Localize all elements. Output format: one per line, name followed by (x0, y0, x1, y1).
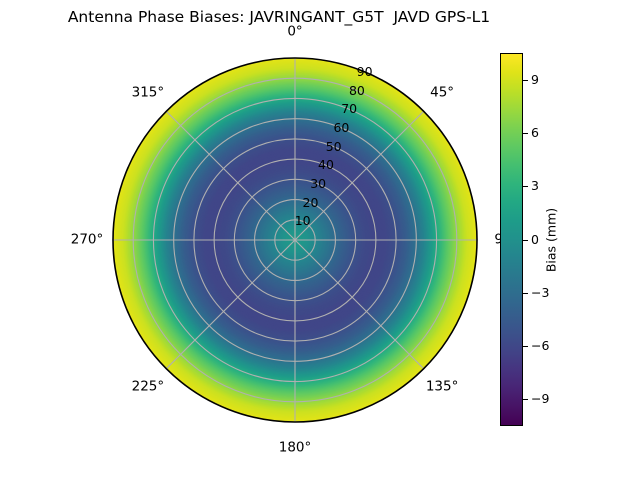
colorbar-tick-label: 3 (531, 180, 539, 193)
colorbar-tick-mark (523, 293, 528, 294)
figure-canvas: Antenna Phase Biases: JAVRINGANT_G5T JAV… (0, 0, 640, 480)
angular-tick-label-180: 180° (279, 441, 312, 455)
colorbar-tick-mark (523, 240, 528, 241)
radial-tick-label: 80 (349, 84, 365, 97)
polar-gridlines (113, 58, 477, 422)
colorbar-tick-mark (523, 186, 528, 187)
angular-tick-label-0: 0° (287, 25, 302, 39)
colorbar-gradient (500, 53, 523, 426)
polar-axes[interactable]: 102030405060708090 (109, 54, 481, 426)
radial-tick-label: 50 (326, 140, 342, 153)
colorbar-axis-label: Bias (mm) (544, 208, 559, 272)
angular-tick-label-135: 135° (426, 380, 459, 394)
colorbar-tick-label: 6 (531, 127, 539, 140)
colorbar-tick-label: 9 (531, 73, 539, 86)
radial-tick-label: 90 (357, 66, 373, 79)
colorbar-tick-label: −9 (531, 393, 549, 406)
angular-tick-label-45: 45° (430, 86, 454, 100)
angular-tick-label-315: 315° (132, 86, 165, 100)
angular-tick-label-270: 270° (71, 233, 104, 247)
angular-tick-label-225: 225° (132, 380, 165, 394)
colorbar-tick-mark (523, 80, 528, 81)
radial-tick-label: 30 (310, 178, 326, 191)
polar-plot-svg (109, 54, 481, 426)
radial-tick-label: 10 (295, 215, 311, 228)
colorbar-tick-mark (523, 399, 528, 400)
colorbar-tick-mark (523, 133, 528, 134)
colorbar[interactable]: 9630−3−6−9 (500, 53, 523, 426)
colorbar-tick-mark (523, 346, 528, 347)
radial-tick-label: 60 (333, 122, 349, 135)
colorbar-tick-label: 0 (531, 233, 539, 246)
page-title: Antenna Phase Biases: JAVRINGANT_G5T JAV… (0, 8, 558, 26)
radial-tick-label: 70 (341, 103, 357, 116)
radial-tick-label: 40 (318, 159, 334, 172)
colorbar-tick-label: −3 (531, 287, 549, 300)
radial-tick-label: 20 (303, 196, 319, 209)
colorbar-tick-label: −6 (531, 340, 549, 353)
